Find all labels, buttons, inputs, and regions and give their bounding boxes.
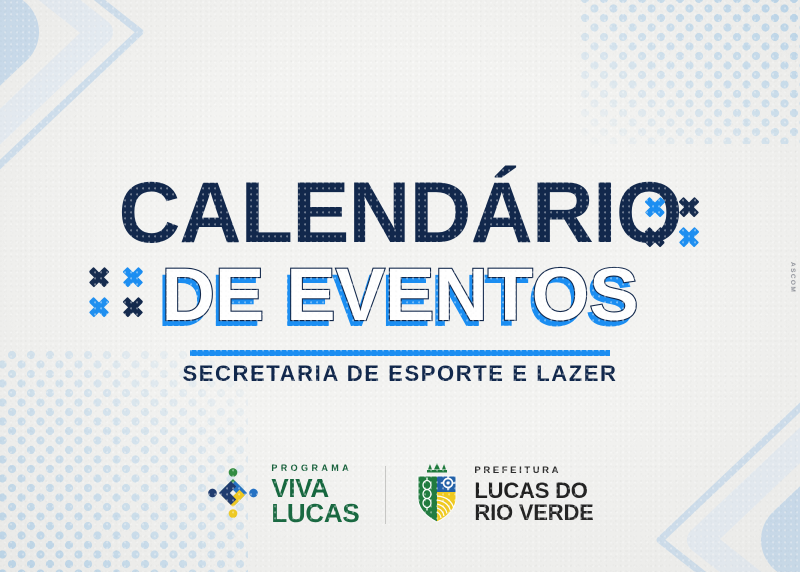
prefeitura-logo: PREFEITURA LUCAS DO RIO VERDE bbox=[412, 462, 593, 529]
poster-canvas: CALENDÁRIO DEEVENTOS DEEVENTOS bbox=[0, 0, 800, 572]
x-mark-icon bbox=[88, 296, 110, 318]
four-people-chevron-icon bbox=[206, 466, 260, 525]
prefeitura-name-line-2: RIO VERDE bbox=[474, 502, 593, 524]
credit-label: ASCOM bbox=[789, 262, 796, 293]
title-word-de-outline: DE bbox=[161, 253, 264, 336]
viva-lucas-logo: PROGRAMA VIVA LUCAS bbox=[206, 464, 359, 526]
viva-name-line-2: LUCAS bbox=[271, 501, 359, 526]
prefeitura-name-line-1: LUCAS DO bbox=[474, 480, 593, 502]
subtitle: SECRETARIA DE ESPORTE E LAZER bbox=[0, 361, 800, 387]
x-mark-icon bbox=[644, 226, 666, 248]
x-mark-icon bbox=[88, 266, 110, 288]
viva-lucas-logo-text: PROGRAMA VIVA LUCAS bbox=[271, 464, 359, 526]
prefeitura-small-label: PREFEITURA bbox=[474, 466, 593, 476]
viva-program-label: PROGRAMA bbox=[271, 464, 359, 473]
x-mark-icon bbox=[122, 296, 144, 318]
x-mark-icon bbox=[644, 196, 666, 218]
title-word-eventos-outline: EVENTOS bbox=[286, 253, 638, 336]
x-marks-cluster-left-decor bbox=[88, 266, 146, 318]
x-mark-icon bbox=[678, 196, 700, 218]
subtitle-rule-divider bbox=[190, 350, 610, 356]
prefeitura-logo-text: PREFEITURA LUCAS DO RIO VERDE bbox=[474, 466, 593, 524]
logo-divider bbox=[385, 466, 386, 524]
coat-of-arms-shield-icon bbox=[412, 462, 462, 529]
x-mark-icon bbox=[122, 266, 144, 288]
x-mark-icon bbox=[678, 226, 700, 248]
poster-content: CALENDÁRIO DEEVENTOS DEEVENTOS bbox=[0, 0, 800, 572]
logo-bar: PROGRAMA VIVA LUCAS bbox=[0, 460, 800, 530]
x-marks-cluster-right-decor bbox=[644, 196, 702, 248]
